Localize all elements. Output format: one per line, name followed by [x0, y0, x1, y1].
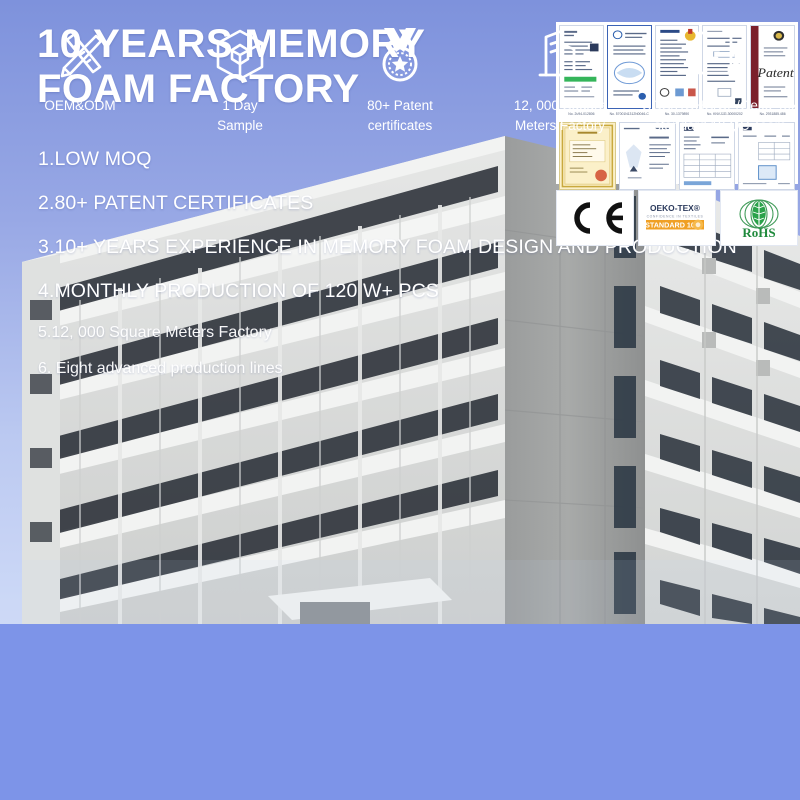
oeko-tex-wordmark: OEKO-TEX®: [650, 203, 701, 213]
list-item: 6. Eight advanced production lines: [38, 360, 778, 378]
feature-factory-size: 12, 000 Square Meters Factory: [480, 0, 640, 135]
ruler-pencil-icon: [51, 24, 109, 86]
feature-label: SGS/ROHS/CE/Oeko-Tex standard 10 QC Team: [642, 96, 797, 135]
svg-text:STANDARD 100: STANDARD 100: [645, 220, 699, 229]
rohs-badge: RoHS: [720, 190, 798, 246]
certification-badges: OEKO-TEX® CONFIDENCE IN TEXTILES STANDAR…: [556, 190, 798, 246]
ce-badge: [556, 190, 634, 246]
cube-box-icon: [212, 24, 268, 86]
svg-text:RoHS: RoHS: [742, 225, 775, 240]
svg-text:CONFIDENCE IN TEXTILES: CONFIDENCE IN TEXTILES: [647, 215, 704, 219]
medal-star-icon: [372, 24, 428, 86]
promo-banner: 10 YEARS MEMORY FOAM FACTORY 1.LOW MOQ 2…: [0, 0, 800, 800]
features-band: [0, 624, 800, 800]
factory-buildings-icon: [532, 24, 588, 86]
feature-label: 80+ Patent certificates: [367, 96, 433, 135]
feature-label: 1 Day Sample: [217, 96, 263, 135]
features-row: OEM&ODM 1 Day Sample: [0, 0, 800, 176]
ce-logo-icon: [564, 201, 626, 235]
feature-sample: 1 Day Sample: [160, 0, 320, 135]
feature-label: 12, 000 Square Meters Factory: [514, 96, 606, 135]
list-item: 4.MONTHLY PRODUCTION OF 120 W+ PCS: [38, 280, 778, 303]
oeko-tex-badge: OEKO-TEX® CONFIDENCE IN TEXTILES STANDAR…: [638, 190, 716, 246]
feature-label: OEM&ODM: [44, 96, 115, 116]
document-stamp-icon: [691, 24, 749, 86]
rohs-logo-icon: RoHS: [728, 196, 790, 240]
list-item: 5.12, 000 Square Meters Factory: [38, 324, 778, 342]
oeko-tex-logo-icon: OEKO-TEX® CONFIDENCE IN TEXTILES STANDAR…: [642, 199, 712, 237]
feature-patents: 80+ Patent certificates: [320, 0, 480, 135]
feature-certifications: SGS/ROHS/CE/Oeko-Tex standard 10 QC Team: [640, 0, 800, 135]
feature-oem-odm: OEM&ODM: [0, 0, 160, 116]
